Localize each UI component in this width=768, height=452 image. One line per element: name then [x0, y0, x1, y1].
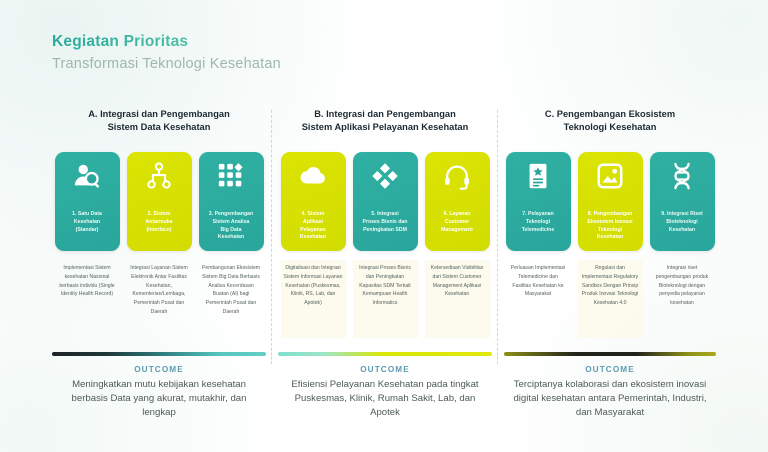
card-3[interactable]: 3. Pengembangan Sistem Analisa Big Data …: [199, 152, 264, 251]
card-2[interactable]: 2. Sistem Antarmuka (Interface): [127, 152, 192, 251]
column-b: B. Integrasi dan Pengembangan Sistem Apl…: [272, 108, 498, 338]
outcome-a-label: OUTCOME: [52, 365, 266, 374]
outcomes-container: OUTCOME Meningkatkan mutu kebijakan kese…: [46, 352, 722, 421]
description-9: Integrasi riset pengembangan produk Biot…: [650, 260, 715, 338]
column-a-descriptions: Implementasi Sistem kesehatan Nasional b…: [52, 260, 266, 338]
heading-line-1: B. Integrasi dan Pengembangan: [278, 108, 492, 121]
outcome-a-text: Meningkatkan mutu kebijakan kesehatan be…: [52, 378, 266, 421]
card-6-label: 6. Layanan Customer Management: [436, 211, 478, 234]
cloud-icon: [298, 161, 328, 191]
columns-container: A. Integrasi dan Pengembangan Sistem Dat…: [46, 108, 722, 338]
description-2: Integrasi Layanan Sistem Elektronik Anta…: [127, 260, 192, 338]
user-search-icon: [72, 161, 102, 191]
outcome-c-label: OUTCOME: [504, 365, 716, 374]
card-5[interactable]: 5. Integrasi Proses Bisnis dan Peningkat…: [353, 152, 418, 251]
page-subtitle: Transformasi Teknologi Kesehatan: [52, 56, 281, 72]
heading-line-2: Sistem Data Kesehatan: [52, 121, 266, 134]
heading-line-2: Teknologi Kesehatan: [504, 121, 716, 134]
outcome-b-bar: [278, 352, 492, 356]
description-7: Perluasan Implementasi Telemedicine dan …: [506, 260, 571, 338]
heading-line-2: Sistem Aplikasi Pelayanan Kesehatan: [278, 121, 492, 134]
heading-line-1: C. Pengembangan Ekosistem: [504, 108, 716, 121]
column-a-cards: 1. Satu Data Kesehatan (Standar) 2. Sist…: [52, 152, 266, 251]
description-1: Implementasi Sistem kesehatan Nasional b…: [55, 260, 120, 338]
page-header: Kegiatan Prioritas Transformasi Teknolog…: [52, 33, 281, 72]
diamond-cluster-icon: [370, 161, 400, 191]
column-c-cards: 7. Pelayanan Teknologi Telemedicine 8. P…: [504, 152, 716, 251]
grid-blocks-icon: [216, 161, 246, 191]
description-8: Regulasi dan Implementasi Regulatory San…: [578, 260, 643, 338]
card-8-label: 8. Pengembangan Ekosistem Inovasi Teknol…: [582, 211, 637, 242]
card-7[interactable]: 7. Pelayanan Teknologi Telemedicine: [506, 152, 571, 251]
outcome-c: OUTCOME Terciptanya kolaborasi dan ekosi…: [498, 352, 722, 421]
card-4[interactable]: 4. Sistem Aplikasi Pelayanan Kesehatan: [281, 152, 346, 251]
description-3: Pembangunan Ekosistem Sistem Big Data Be…: [199, 260, 264, 338]
outcome-c-bar: [504, 352, 716, 356]
column-b-descriptions: Digitalisasi dan Integrasi Sistem Inform…: [278, 260, 492, 338]
card-7-label: 7. Pelayanan Teknologi Telemedicine: [517, 211, 559, 234]
column-c-descriptions: Perluasan Implementasi Telemedicine dan …: [504, 260, 716, 338]
description-4: Digitalisasi dan Integrasi Sistem Inform…: [281, 260, 346, 338]
card-4-label: 4. Sistem Aplikasi Pelayanan Kesehatan: [295, 211, 331, 242]
heading-line-1: A. Integrasi dan Pengembangan: [52, 108, 266, 121]
outcome-b-label: OUTCOME: [278, 365, 492, 374]
card-1-label: 1. Satu Data Kesehatan (Standar): [67, 211, 107, 234]
card-2-label: 2. Sistem Antarmuka (Interface): [140, 211, 177, 234]
card-3-label: 3. Pengembangan Sistem Analisa Big Data …: [204, 211, 258, 242]
innovation-image-icon: [595, 161, 625, 191]
outcome-a: OUTCOME Meningkatkan mutu kebijakan kese…: [46, 352, 272, 421]
card-9[interactable]: 9. Integrasi Riset Bioteknologi Kesehata…: [650, 152, 715, 251]
certificate-icon: [523, 161, 553, 191]
column-c-heading: C. Pengembangan Ekosistem Teknologi Kese…: [504, 108, 716, 142]
column-b-heading: B. Integrasi dan Pengembangan Sistem Apl…: [278, 108, 492, 142]
outcome-b-text: Efisiensi Pelayanan Kesehatan pada tingk…: [278, 378, 492, 421]
column-b-cards: 4. Sistem Aplikasi Pelayanan Kesehatan 5…: [278, 152, 492, 251]
card-5-label: 5. Integrasi Proses Bisnis dan Peningkat…: [358, 211, 413, 234]
infographic-page: Kegiatan Prioritas Transformasi Teknolog…: [0, 0, 768, 452]
column-c: C. Pengembangan Ekosistem Teknologi Kese…: [498, 108, 722, 338]
page-title: Kegiatan Prioritas: [52, 33, 281, 51]
outcome-b: OUTCOME Efisiensi Pelayanan Kesehatan pa…: [272, 352, 498, 421]
card-6[interactable]: 6. Layanan Customer Management: [425, 152, 490, 251]
headset-icon: [442, 161, 472, 191]
column-a: A. Integrasi dan Pengembangan Sistem Dat…: [46, 108, 272, 338]
outcome-a-bar: [52, 352, 266, 356]
card-9-label: 9. Integrasi Riset Bioteknologi Kesehata…: [656, 211, 708, 234]
card-1[interactable]: 1. Satu Data Kesehatan (Standar): [55, 152, 120, 251]
description-6: Ketersediaan Visibilitas dari Sistem Cus…: [425, 260, 490, 338]
description-5: Integrasi Proses Bisnis dan Peningkatan …: [353, 260, 418, 338]
network-node-icon: [144, 161, 174, 191]
card-8[interactable]: 8. Pengembangan Ekosistem Inovasi Teknol…: [578, 152, 643, 251]
outcome-c-text: Terciptanya kolaborasi dan ekosistem ino…: [504, 378, 716, 421]
column-a-heading: A. Integrasi dan Pengembangan Sistem Dat…: [52, 108, 266, 142]
dna-icon: [667, 161, 697, 191]
